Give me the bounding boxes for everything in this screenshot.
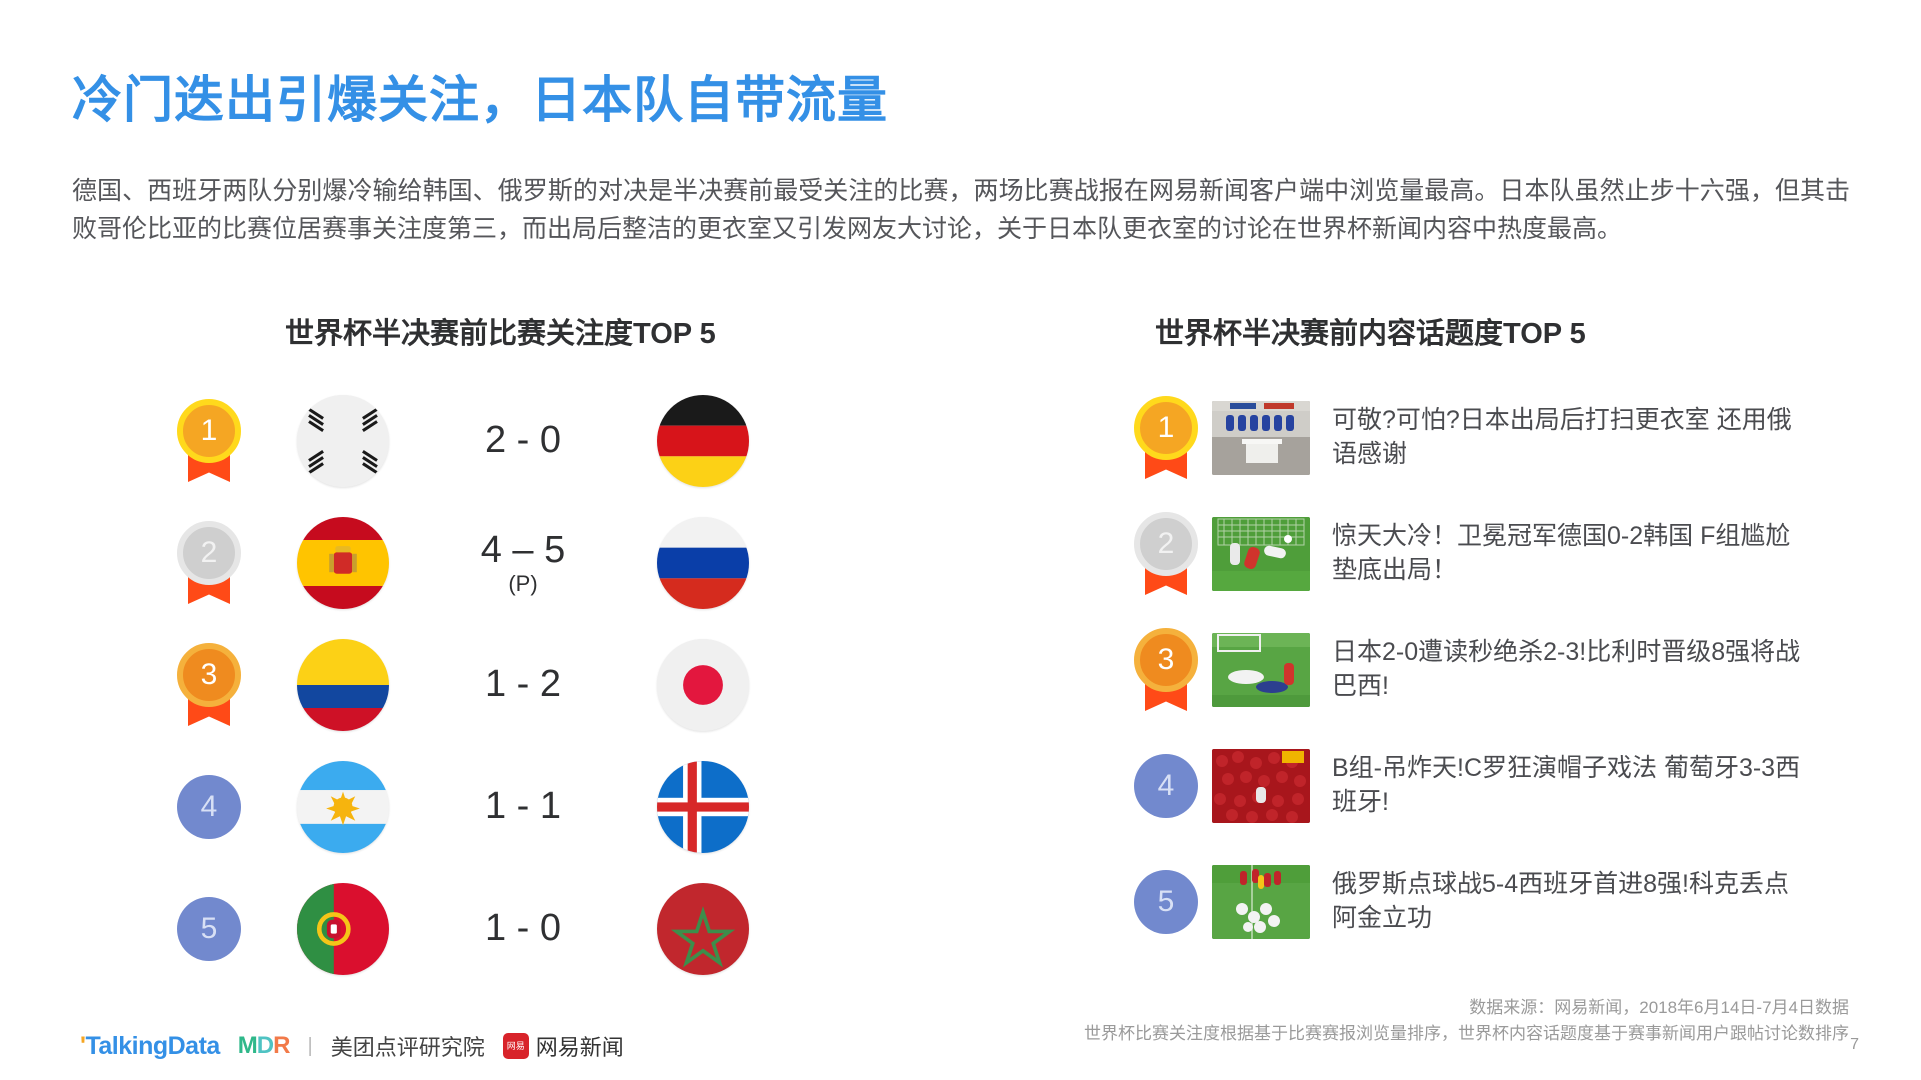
talkingdata-logo-text: TalkingData: [85, 1032, 219, 1060]
mdr-logo: MDR: [238, 1032, 290, 1060]
topic-2-rank-number: 2: [1134, 512, 1198, 576]
celebration-photo: [1212, 865, 1310, 939]
netease-logo-text: 网易新闻: [536, 1030, 624, 1062]
topic-title[interactable]: 日本2-0遭读秒绝杀2-3!比利时晋级8强将战巴西!: [1332, 636, 1802, 704]
topic-1-rank-number: 1: [1134, 396, 1198, 460]
locker-room-photo: [1212, 401, 1310, 475]
match-score-value: 2 - 0: [485, 419, 561, 461]
match-score: 1 - 2: [418, 665, 628, 705]
home-flag-cell: [268, 395, 418, 487]
ar-flag-icon: [297, 761, 389, 853]
match-row: 24 – 5(P): [150, 502, 910, 624]
is-flag-icon: [657, 761, 749, 853]
page-title: 冷门迭出引爆关注，日本队自带流量: [72, 60, 888, 132]
match-2-medal-icon: 2: [177, 521, 241, 605]
match-4-rank-circle: 4: [177, 775, 241, 839]
netease-logo: 网易 网易新闻: [503, 1030, 624, 1062]
slide-root: 冷门迭出引爆关注，日本队自带流量 德国、西班牙两队分别爆冷输给韩国、俄罗斯的对决…: [0, 0, 1921, 1080]
topic-row[interactable]: 1可敬?可怕?日本出局后打扫更衣室 还用俄语感谢: [1120, 380, 1860, 496]
match-score: 1 - 0: [418, 909, 628, 949]
topic-5-rank-circle: 5: [1134, 870, 1198, 934]
topic-rank-cell: 1: [1120, 396, 1212, 480]
topic-rank-cell: 3: [1120, 628, 1212, 712]
netease-badge-icon: 网易: [503, 1033, 529, 1059]
match-3-rank-number: 3: [177, 643, 241, 707]
away-flag-cell: [628, 639, 778, 731]
away-flag-cell: [628, 761, 778, 853]
match-score: 4 – 5(P): [418, 531, 628, 596]
match-1-medal-icon: 1: [177, 399, 241, 483]
match-rank-cell: 3: [150, 643, 268, 727]
es-flag-icon: [297, 517, 389, 609]
match-score-value: 4 – 5: [481, 529, 566, 571]
match-rank-cell: 5: [150, 897, 268, 961]
ma-flag-icon: [657, 883, 749, 975]
match-rank-cell: 1: [150, 399, 268, 483]
topic-rank-cell: 2: [1120, 512, 1212, 596]
match-ranking-list: 12 - 024 – 5(P)31 - 241 - 151 - 0: [150, 380, 910, 990]
match-rank-cell: 2: [150, 521, 268, 605]
away-flag-cell: [628, 395, 778, 487]
topic-row[interactable]: 3日本2-0遭读秒绝杀2-3!比利时晋级8强将战巴西!: [1120, 612, 1860, 728]
pt-flag-icon: [297, 883, 389, 975]
match-2-rank-number: 2: [177, 521, 241, 585]
source-line-2: 世界杯比赛关注度根据基于比赛赛报浏览量排序，世界杯内容话题度基于赛事新闻用户跟帖…: [1084, 1021, 1849, 1047]
match-row: 31 - 2: [150, 624, 910, 746]
topic-2-medal-icon: 2: [1134, 512, 1198, 596]
kr-flag-icon: [297, 395, 389, 487]
match-1-rank-number: 1: [177, 399, 241, 463]
away-flag-cell: [628, 883, 778, 975]
goal-save-photo: [1212, 517, 1310, 591]
topic-title[interactable]: 可敬?可怕?日本出局后打扫更衣室 还用俄语感谢: [1332, 404, 1802, 472]
match-score-value: 1 - 0: [485, 907, 561, 949]
home-flag-cell: [268, 883, 418, 975]
topic-title[interactable]: 俄罗斯点球战5-4西班牙首进8强!科克丢点阿金立功: [1332, 868, 1802, 936]
match-score: 1 - 1: [418, 787, 628, 827]
topic-ranking-list: 1可敬?可怕?日本出局后打扫更衣室 还用俄语感谢2惊天大冷！卫冕冠军德国0-2韩…: [1120, 380, 1860, 960]
match-5-rank-circle: 5: [177, 897, 241, 961]
home-flag-cell: [268, 639, 418, 731]
home-flag-cell: [268, 517, 418, 609]
right-column-heading: 世界杯半决赛前内容话题度TOP 5: [1155, 310, 1586, 352]
red-crowd-photo: [1212, 749, 1310, 823]
source-note: 数据来源：网易新闻，2018年6月14日-7月4日数据 世界杯比赛关注度根据基于…: [1084, 995, 1849, 1048]
meituan-logo-text: 美团点评研究院: [331, 1030, 485, 1062]
match-row: 12 - 0: [150, 380, 910, 502]
topic-4-rank-circle: 4: [1134, 754, 1198, 818]
left-column-heading: 世界杯半决赛前比赛关注度TOP 5: [285, 310, 716, 352]
match-score-value: 1 - 2: [485, 663, 561, 705]
talkingdata-logo: 'TalkingData: [80, 1032, 220, 1061]
jp-flag-icon: [657, 639, 749, 731]
topic-rank-cell: 5: [1120, 870, 1212, 934]
page-number: 7: [1850, 1036, 1859, 1054]
match-row: 51 - 0: [150, 868, 910, 990]
match-3-medal-icon: 3: [177, 643, 241, 727]
topic-3-rank-number: 3: [1134, 628, 1198, 692]
match-score-value: 1 - 1: [485, 785, 561, 827]
source-line-1: 数据来源：网易新闻，2018年6月14日-7月4日数据: [1084, 995, 1849, 1021]
match-score: 2 - 0: [418, 421, 628, 461]
topic-3-medal-icon: 3: [1134, 628, 1198, 712]
topic-title[interactable]: 惊天大冷！卫冕冠军德国0-2韩国 F组尴尬垫底出局！: [1332, 520, 1802, 588]
de-flag-icon: [657, 395, 749, 487]
away-flag-cell: [628, 517, 778, 609]
topic-1-medal-icon: 1: [1134, 396, 1198, 480]
co-flag-icon: [297, 639, 389, 731]
match-rank-cell: 4: [150, 775, 268, 839]
home-flag-cell: [268, 761, 418, 853]
ru-flag-icon: [657, 517, 749, 609]
pitch-dejection-photo: [1212, 633, 1310, 707]
intro-paragraph: 德国、西班牙两队分别爆冷输给韩国、俄罗斯的对决是半决赛前最受关注的比赛，两场比赛…: [72, 172, 1850, 248]
topic-row[interactable]: 2惊天大冷！卫冕冠军德国0-2韩国 F组尴尬垫底出局！: [1120, 496, 1860, 612]
penalty-note: (P): [418, 572, 628, 595]
topic-row[interactable]: 5俄罗斯点球战5-4西班牙首进8强!科克丢点阿金立功: [1120, 844, 1860, 960]
footer-logos: 'TalkingData MDR | 美团点评研究院 网易 网易新闻: [80, 1030, 624, 1062]
topic-rank-cell: 4: [1120, 754, 1212, 818]
logo-divider: |: [307, 1035, 312, 1058]
topic-row[interactable]: 4B组-吊炸天!C罗狂演帽子戏法 葡萄牙3-3西班牙!: [1120, 728, 1860, 844]
match-row: 41 - 1: [150, 746, 910, 868]
topic-title[interactable]: B组-吊炸天!C罗狂演帽子戏法 葡萄牙3-3西班牙!: [1332, 752, 1802, 820]
